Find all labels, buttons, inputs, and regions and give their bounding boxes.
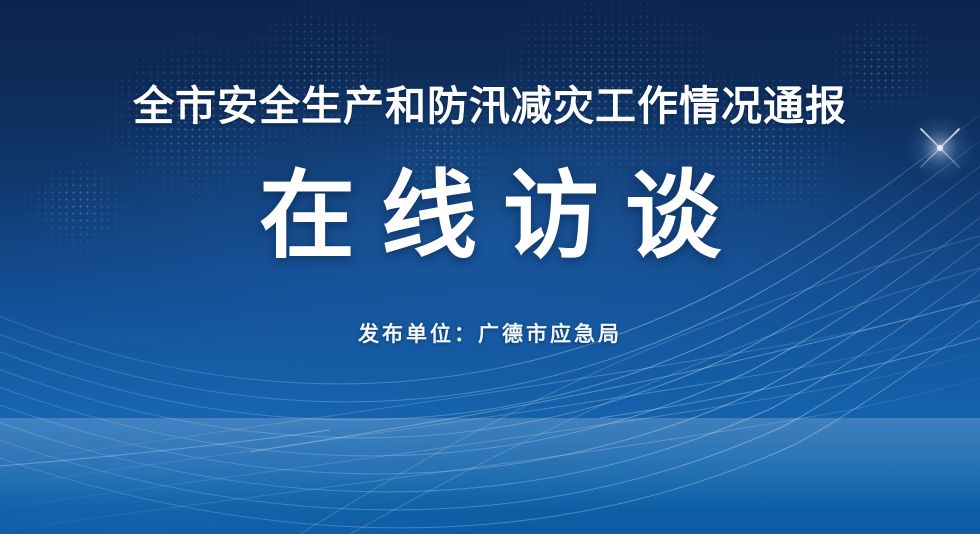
publisher-line: 发布单位：广德市应急局 (0, 318, 980, 348)
headline: 在线访谈 (0, 166, 980, 267)
text-layer: 全市安全生产和防汛减灾工作情况通报 在线访谈 发布单位：广德市应急局 (0, 0, 980, 534)
poster-canvas: 全市安全生产和防汛减灾工作情况通报 在线访谈 发布单位：广德市应急局 (0, 0, 980, 534)
page-title: 全市安全生产和防汛减灾工作情况通报 (0, 84, 980, 130)
